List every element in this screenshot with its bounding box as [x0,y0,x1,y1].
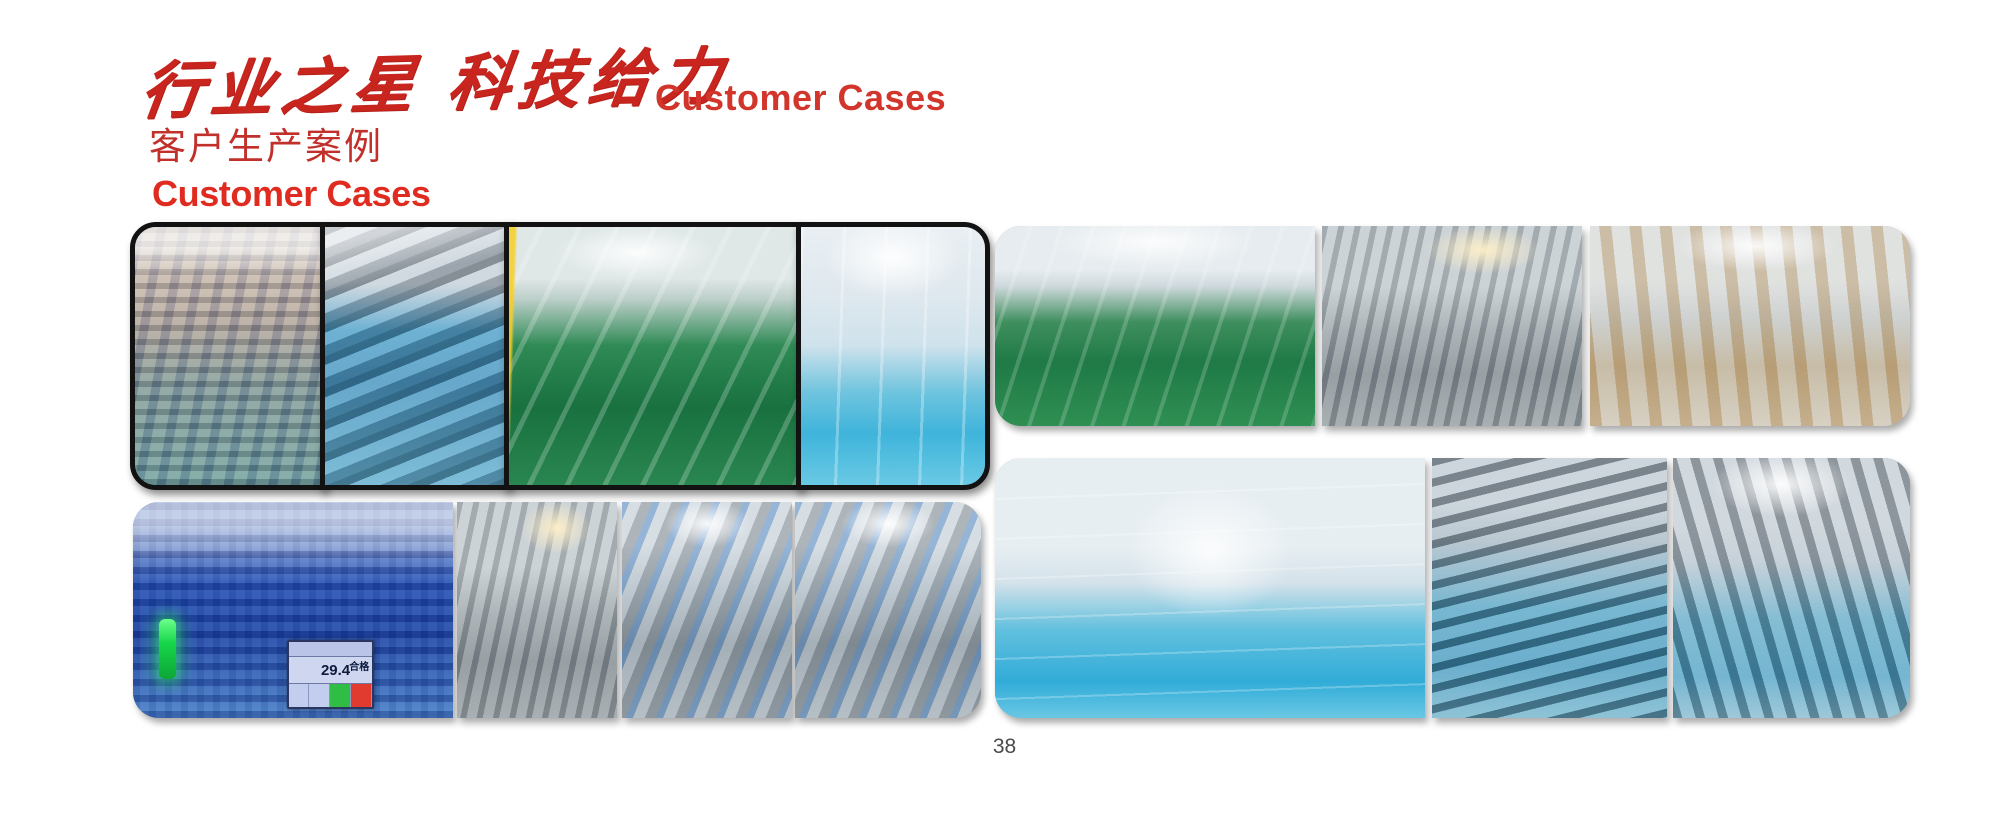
display-cell-green-1 [330,684,351,707]
photo-bl-4-image [795,502,981,718]
photo-tl-2 [320,222,510,490]
photo-bl-1: 29.4 合格 [133,502,453,718]
photo-tr-1 [995,226,1315,426]
slide-canvas: 行业之星科技给力 Customer Cases 客户生产案例 Customer … [0,0,2009,838]
photo-bl-4 [795,502,981,718]
photo-bl-3 [622,502,792,718]
photo-tl-4 [796,222,990,490]
photo-bl-3-image [622,502,792,718]
photo-tr-3-image [1590,226,1910,426]
tower-light-indicator [159,619,177,679]
photo-tr-1-image [995,226,1315,426]
photo-gallery: 29.4 合格 [0,0,2009,838]
display-cell-1 [289,684,310,707]
page-number: 38 [0,736,2009,757]
display-button-row [289,683,372,707]
photo-br-3 [1673,458,1910,718]
display-cell-2 [309,684,330,707]
photo-tr-3 [1590,226,1910,426]
photo-bl-2-image [457,502,617,718]
photo-bl-2 [457,502,617,718]
photo-tr-2-image [1322,226,1582,426]
photo-tl-4-image [801,227,985,485]
photo-br-1 [995,458,1425,718]
display-header-bar [289,642,372,657]
display-cell-red-1 [351,684,372,707]
photo-tl-3 [504,222,802,490]
photo-tl-3-image [509,227,797,485]
photo-tl-1-image [135,227,321,485]
display-status-text: 合格 [349,658,369,673]
checkweigher-display: 29.4 合格 [287,640,374,709]
photo-tl-1 [130,222,326,490]
photo-tl-2-image [325,227,505,485]
photo-tr-2 [1322,226,1582,426]
photo-br-2-image [1432,458,1667,718]
photo-br-3-image [1673,458,1910,718]
photo-br-2 [1432,458,1667,718]
photo-br-1-image [995,458,1425,718]
